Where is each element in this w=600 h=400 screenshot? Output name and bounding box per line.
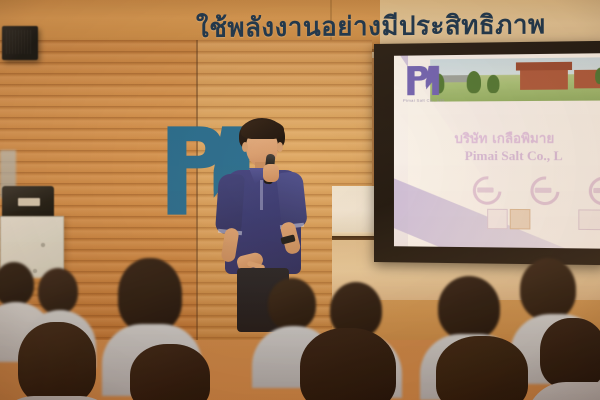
presenter-hair-fringe (241, 120, 284, 139)
presenter-shirt-placket (260, 180, 263, 210)
slide-certification-row (473, 176, 600, 203)
slide-title-thai: บริษัท เกลือพิมาย (454, 127, 600, 149)
projection-screen-frame: Pimai Salt Co., Ltd. บริษัท เกลือพิมาย P… (374, 41, 600, 265)
slide-title-english: Pimai Salt Co., L (465, 148, 600, 165)
emblem-icon (487, 209, 508, 229)
emblem-icon (510, 209, 531, 230)
ceiling-speaker-icon (2, 26, 38, 60)
presenter-ear (242, 142, 248, 152)
presenter-ear (277, 142, 283, 152)
slide-company-logo-icon (404, 63, 448, 98)
presenter-hand-holding-mic (263, 164, 279, 182)
presenter-right-sleeve (276, 171, 308, 229)
emblem-icon (578, 209, 600, 230)
photo-scene: ใช้พลังงานอย่างมีประสิทธิภาพ (0, 0, 600, 400)
slide-photo-banner (430, 57, 600, 101)
presenter-left-sleeve (215, 173, 245, 235)
slide-logo-subtext: Pimai Salt Co., Ltd. (403, 98, 446, 103)
projection-screen-surface: Pimai Salt Co., Ltd. บริษัท เกลือพิมาย P… (394, 53, 600, 249)
slide-emblem-row (487, 209, 600, 231)
